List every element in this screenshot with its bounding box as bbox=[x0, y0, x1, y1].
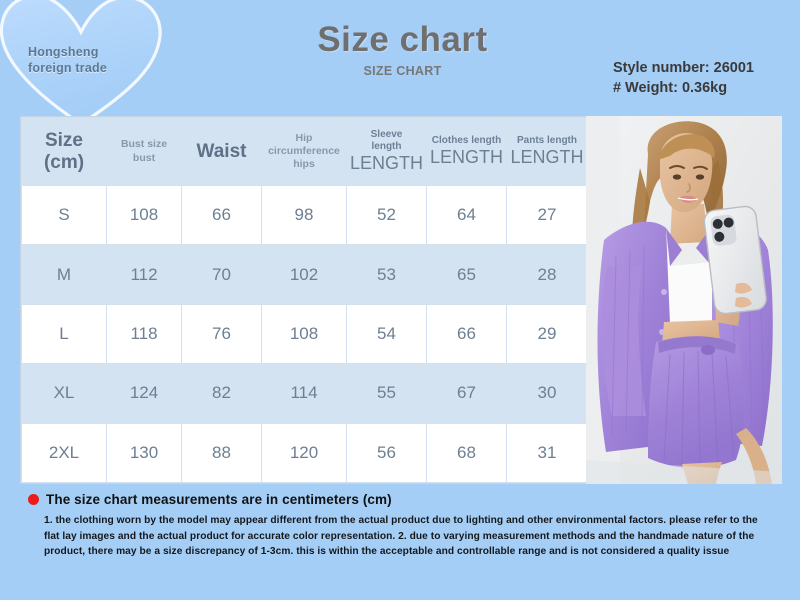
cell-hip: 108 bbox=[262, 304, 347, 363]
cell-hip: 102 bbox=[262, 245, 347, 304]
header-clothes-label: Clothes length bbox=[430, 135, 503, 147]
cell-bust: 118 bbox=[107, 304, 182, 363]
header-cell-sleeve: Sleeve length LENGTH bbox=[347, 118, 427, 186]
style-info: Style number: 26001 # Weight: 0.36kg bbox=[613, 58, 754, 98]
product-weight: # Weight: 0.36kg bbox=[613, 78, 754, 98]
cell-sleeve: 55 bbox=[347, 364, 427, 423]
header-sleeve-length: LENGTH bbox=[350, 154, 423, 174]
cell-waist: 76 bbox=[182, 304, 262, 363]
header-bust-label: Bust size bbox=[110, 138, 178, 151]
cell-clothes: 67 bbox=[427, 364, 507, 423]
product-photo bbox=[586, 116, 782, 484]
cell-clothes: 65 bbox=[427, 245, 507, 304]
header-hip-label: Hip bbox=[265, 132, 343, 145]
header-bust-sub: bust bbox=[110, 152, 178, 165]
brand-line-1: Hongsheng bbox=[28, 45, 107, 61]
header-hip-sub2: hips bbox=[265, 158, 343, 171]
cell-pants: 27 bbox=[507, 186, 588, 245]
brand-name: Hongsheng foreign trade bbox=[28, 45, 107, 76]
page-title: Size chart SIZE CHART bbox=[230, 22, 575, 78]
header-cell-size: Size (cm) bbox=[22, 118, 107, 186]
cell-size: 2XL bbox=[22, 423, 107, 482]
header-cell-clothes: Clothes length LENGTH bbox=[427, 118, 507, 186]
header-cell-hip: Hip circumference hips bbox=[262, 118, 347, 186]
header-waist-label: Waist bbox=[185, 141, 258, 163]
header-size-label: Size bbox=[25, 130, 103, 152]
cell-bust: 108 bbox=[107, 186, 182, 245]
table-row: L 118 76 108 54 66 29 bbox=[22, 304, 588, 363]
table-row: S 108 66 98 52 64 27 bbox=[22, 186, 588, 245]
cell-sleeve: 53 bbox=[347, 245, 427, 304]
header-sleeve-sub: length bbox=[350, 141, 423, 153]
cell-waist: 88 bbox=[182, 423, 262, 482]
size-chart-table: Size (cm) Bust size bust Waist Hip circu… bbox=[20, 116, 586, 484]
cell-clothes: 66 bbox=[427, 304, 507, 363]
cell-size: M bbox=[22, 245, 107, 304]
header-cell-pants: Pants length LENGTH bbox=[507, 118, 588, 186]
cell-waist: 82 bbox=[182, 364, 262, 423]
footer-headline: The size chart measurements are in centi… bbox=[46, 492, 392, 507]
cell-pants: 29 bbox=[507, 304, 588, 363]
table-header-row: Size (cm) Bust size bust Waist Hip circu… bbox=[22, 118, 588, 186]
cell-clothes: 68 bbox=[427, 423, 507, 482]
cell-waist: 66 bbox=[182, 186, 262, 245]
cell-pants: 30 bbox=[507, 364, 588, 423]
header-cell-bust: Bust size bust bbox=[107, 118, 182, 186]
header-hip-sub1: circumference bbox=[265, 145, 343, 158]
header-clothes-length: LENGTH bbox=[430, 148, 503, 168]
header-cell-waist: Waist bbox=[182, 118, 262, 186]
cell-size: S bbox=[22, 186, 107, 245]
cell-bust: 130 bbox=[107, 423, 182, 482]
bullet-dot-icon bbox=[28, 494, 39, 505]
header-sleeve-label: Sleeve bbox=[350, 129, 423, 141]
cell-size: L bbox=[22, 304, 107, 363]
cell-hip: 98 bbox=[262, 186, 347, 245]
style-number: Style number: 26001 bbox=[613, 58, 754, 78]
header-pants-length: LENGTH bbox=[510, 148, 584, 168]
footer-notes: The size chart measurements are in centi… bbox=[28, 492, 773, 560]
header-size-unit: (cm) bbox=[25, 152, 103, 174]
cell-sleeve: 52 bbox=[347, 186, 427, 245]
sub-title: SIZE CHART bbox=[230, 64, 575, 78]
table-row: XL 124 82 114 55 67 30 bbox=[22, 364, 588, 423]
brand-line-2: foreign trade bbox=[28, 61, 107, 77]
cell-clothes: 64 bbox=[427, 186, 507, 245]
main-title: Size chart bbox=[230, 22, 575, 59]
footer-headline-row: The size chart measurements are in centi… bbox=[28, 492, 773, 507]
cell-sleeve: 56 bbox=[347, 423, 427, 482]
cell-hip: 120 bbox=[262, 423, 347, 482]
cell-bust: 112 bbox=[107, 245, 182, 304]
table-row: M 112 70 102 53 65 28 bbox=[22, 245, 588, 304]
footer-note: 1. the clothing worn by the model may ap… bbox=[44, 513, 774, 560]
cell-waist: 70 bbox=[182, 245, 262, 304]
cell-hip: 114 bbox=[262, 364, 347, 423]
header-pants-label: Pants length bbox=[510, 135, 584, 147]
table-row: 2XL 130 88 120 56 68 31 bbox=[22, 423, 588, 482]
cell-pants: 28 bbox=[507, 245, 588, 304]
cell-sleeve: 54 bbox=[347, 304, 427, 363]
cell-size: XL bbox=[22, 364, 107, 423]
cell-bust: 124 bbox=[107, 364, 182, 423]
cell-pants: 31 bbox=[507, 423, 588, 482]
